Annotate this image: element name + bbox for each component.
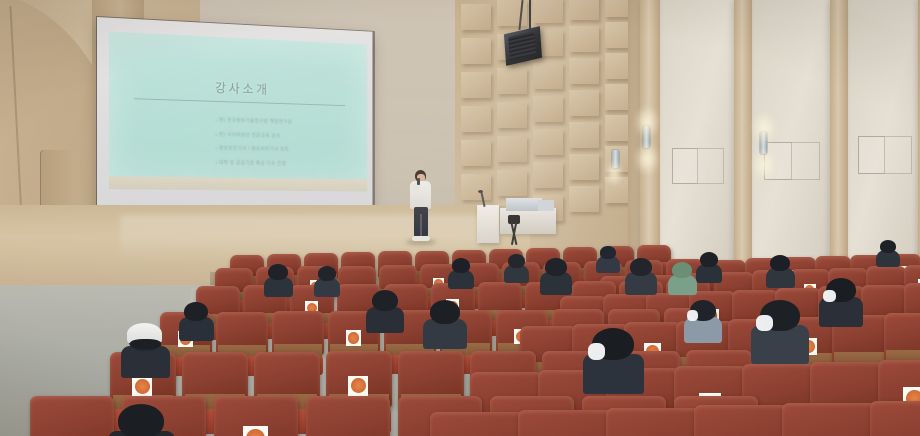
audience-member (672, 262, 692, 296)
panel-seam (858, 136, 885, 174)
face-mask (756, 315, 773, 331)
handheld-microphone (417, 178, 420, 185)
audience-head (118, 404, 164, 436)
auditorium-seat (430, 412, 526, 436)
av-equipment-box (538, 200, 554, 211)
audience-member (118, 404, 164, 436)
audience-head (600, 246, 616, 259)
face-mask (823, 290, 836, 302)
slide-bullet: 대학 및 공공기관 특강 다수 진행 (216, 161, 350, 168)
sconce-glow-down (604, 160, 624, 186)
cap-brim (130, 339, 161, 349)
wall-pilaster (734, 0, 752, 262)
sticker-seal (351, 378, 366, 393)
face-mask (588, 343, 606, 360)
auditorium-seat (606, 408, 702, 436)
audience-member (545, 258, 567, 296)
audience-head (372, 290, 398, 311)
presenter (408, 170, 434, 242)
seat-back (606, 408, 702, 436)
seat-back (306, 396, 390, 436)
audience-member (760, 300, 800, 365)
sconce-glow-up (634, 105, 660, 139)
acoustic-fabric-panel (658, 0, 736, 260)
audience-head (770, 255, 790, 271)
audience-member (592, 328, 634, 395)
slide-footer-band (109, 176, 368, 191)
auditorium-seat (306, 396, 390, 436)
audience-member (372, 290, 398, 334)
seat-back (30, 396, 114, 436)
audience-member (690, 300, 716, 344)
audience-head (880, 240, 896, 253)
audience-member (700, 252, 718, 284)
audience-member (128, 325, 162, 380)
microphone-head (478, 190, 483, 193)
sticker-seal (348, 332, 360, 344)
audience-member (880, 240, 896, 267)
audience-head (630, 258, 652, 276)
auditorium-photo-scene: 강사소개 현) 한국정보기술연구원 책임연구원 전) 사이버보안 전문교육 강사… (0, 0, 920, 436)
seat-back (430, 412, 526, 436)
auditorium-seat (30, 396, 114, 436)
audience-head (268, 264, 288, 280)
audience-member (452, 258, 470, 290)
slide-bullet: 현) 한국정보기술연구원 책임연구원 (216, 118, 350, 127)
auditorium-seat (694, 405, 790, 436)
panel-seam (672, 148, 698, 184)
audience-head (452, 258, 470, 273)
presentation-slide: 강사소개 현) 한국정보기술연구원 책임연구원 전) 사이버보안 전문교육 강사… (109, 32, 368, 181)
slide-bullet: 전) 사이버보안 전문교육 강사 (216, 132, 350, 140)
audience-head (700, 252, 718, 267)
audience-head (318, 266, 336, 281)
audience-member (600, 246, 616, 273)
sconce-glow-up (751, 111, 777, 145)
projection-screen: 강사소개 현) 한국정보기술연구원 책임연구원 전) 사이버보안 전문교육 강사… (97, 17, 372, 214)
presenter-leg-gap (420, 214, 422, 237)
presenter-shoes (412, 236, 430, 241)
slide-bullet: 정보보안기사 / 정보처리기사 취득 (216, 146, 350, 154)
sconce-glow-down (634, 142, 660, 176)
auditorium-seat (870, 401, 920, 436)
audience-head (508, 254, 525, 268)
audience-member (268, 264, 288, 298)
face-mask (687, 310, 698, 321)
audience-member (430, 300, 460, 350)
audience-member (184, 302, 208, 342)
camera-tripod (506, 215, 522, 245)
auditorium-seat (518, 410, 614, 436)
audience-member (508, 254, 525, 283)
slide-bullet-list: 현) 한국정보기술연구원 책임연구원 전) 사이버보안 전문교육 강사 정보보안… (216, 118, 350, 176)
distancing-marker-sticker (243, 426, 268, 436)
audience-head (430, 300, 460, 324)
seat-back (870, 401, 920, 436)
audience-member (770, 255, 790, 289)
sconce-glow-down (751, 148, 777, 182)
sticker-seal (135, 379, 150, 394)
audience-head (184, 302, 208, 321)
distancing-marker-sticker (348, 376, 368, 396)
seat-back (518, 410, 614, 436)
audience-member (630, 258, 652, 296)
audience-member (826, 278, 856, 328)
audience-head (545, 258, 567, 276)
distancing-marker-sticker (346, 330, 362, 346)
seat-back (782, 403, 878, 436)
projector-unit (506, 198, 542, 211)
seat-back (694, 405, 790, 436)
audience-head (672, 262, 692, 278)
sticker-seal (246, 429, 265, 436)
auditorium-seat (214, 396, 298, 436)
auditorium-seat (782, 403, 878, 436)
audience-member (318, 266, 336, 298)
wall-pilaster (830, 0, 848, 270)
lectern (477, 205, 499, 243)
slide-title: 강사소개 (109, 73, 368, 101)
